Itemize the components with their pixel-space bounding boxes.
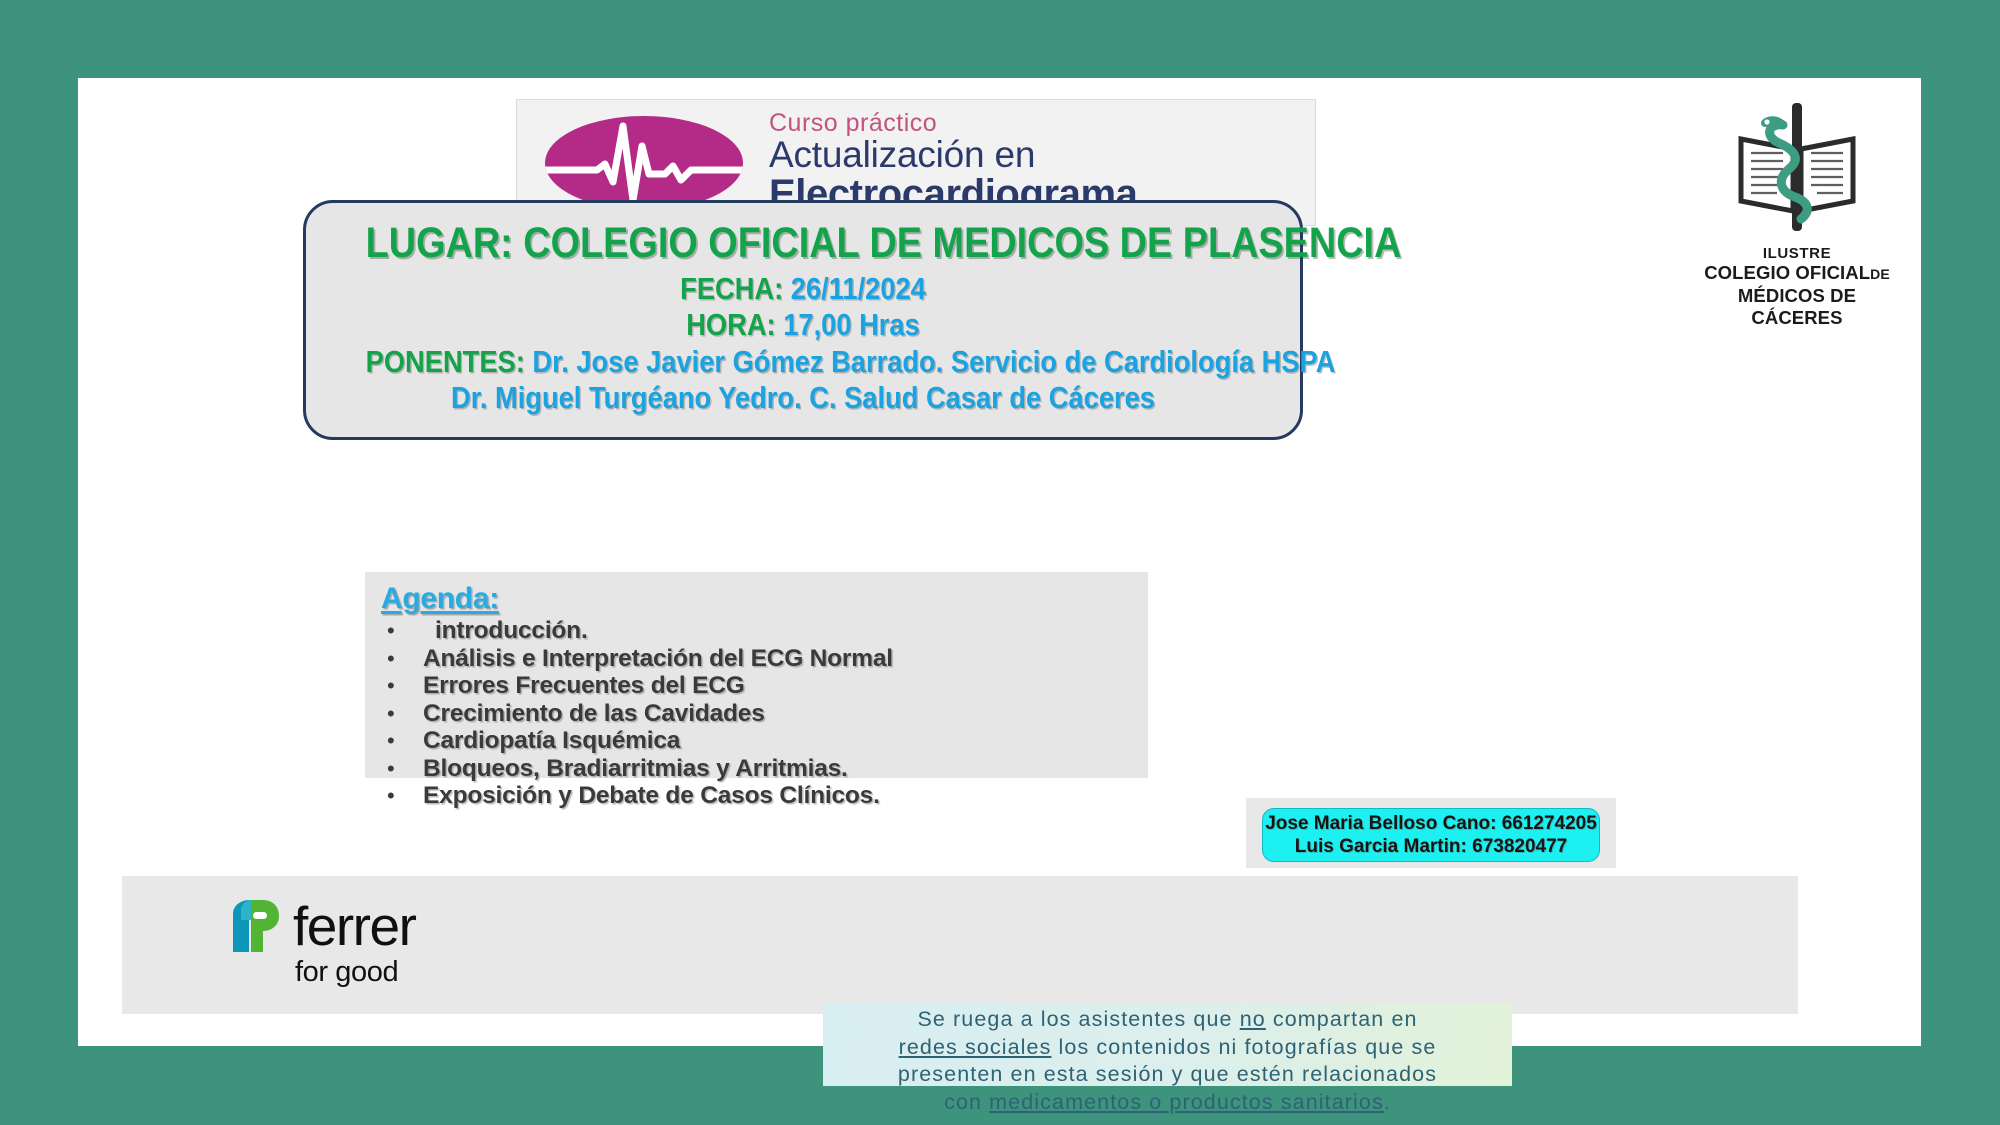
disclaimer-line-1: Se ruega a los asistentes que no compart… <box>823 1006 1512 1034</box>
agenda-title: Agenda: <box>381 582 1148 616</box>
college-emblem: ILUSTRE COLEGIO OFICIALDE MÉDICOS DE CÁC… <box>1697 93 1897 323</box>
sponsor-name: ferrer <box>293 901 415 952</box>
agenda-item-label: Errores Frecuentes del ECG <box>423 674 745 699</box>
slide-canvas: Curso práctico Actualización en Electroc… <box>78 78 1921 1046</box>
event-speaker-line-2: Dr. Miguel Turgéano Yedro. C. Salud Casa… <box>366 380 1241 417</box>
disclaimer-line-4: con medicamentos o productos sanitarios. <box>823 1089 1512 1117</box>
agenda-item-label: Cardiopatía Isquémica <box>423 729 680 754</box>
time-value: 17,00 Hras <box>783 307 920 342</box>
ecg-heartbeat-oval-icon <box>545 116 743 210</box>
speakers-label: PONENTES: <box>366 344 525 379</box>
agenda-list-item: • introducción. <box>381 619 1148 644</box>
disclaimer-text-b: compartan en <box>1266 1007 1418 1031</box>
contact-box: Jose Maria Belloso Cano: 661274205 Luis … <box>1262 808 1600 862</box>
sponsor-tagline: for good <box>295 956 527 989</box>
course-subtitle: Curso práctico <box>769 110 1138 136</box>
asclepius-book-icon <box>1697 93 1897 241</box>
agenda-item-label: Crecimiento de las Cavidades <box>423 702 765 727</box>
event-info-box: LUGAR: COLEGIO OFICIAL DE MEDICOS DE PLA… <box>303 200 1303 440</box>
course-title-line-1: Actualización en <box>769 136 1138 174</box>
contact-line-2: Luis Garcia Martin: 673820477 <box>1295 835 1567 858</box>
date-value: 26/11/2024 <box>791 271 926 306</box>
bullet-icon: • <box>381 785 423 807</box>
emblem-colegio-text: COLEGIO OFICIAL <box>1704 262 1870 283</box>
bullet-icon: • <box>381 648 423 670</box>
date-label: FECHA: <box>680 271 783 306</box>
disclaimer-underline-redes: redes sociales <box>899 1035 1052 1059</box>
speaker-1-value: Dr. Jose Javier Gómez Barrado. Servicio … <box>532 344 1335 379</box>
agenda-item-label: Exposición y Debate de Casos Clínicos. <box>423 784 880 809</box>
disclaimer-underline-no: no <box>1240 1007 1266 1031</box>
agenda-list-item: • Exposición y Debate de Casos Clínicos. <box>381 784 1148 809</box>
place-label: LUGAR: <box>366 219 513 267</box>
ferrer-logo-icon <box>227 898 281 954</box>
contact-panel: Jose Maria Belloso Cano: 661274205 Luis … <box>1246 798 1616 868</box>
disclaimer-text-d: con <box>944 1090 989 1114</box>
time-label: HORA: <box>686 307 775 342</box>
event-date-line: FECHA: 26/11/2024 <box>366 271 1241 308</box>
agenda-list-item: • Bloqueos, Bradiarritmias y Arritmias. <box>381 757 1148 782</box>
disclaimer-notice: Se ruega a los asistentes que no compart… <box>823 1003 1512 1086</box>
sponsor-logo-row: ferrer <box>227 898 527 954</box>
emblem-line-ilustre: ILUSTRE <box>1697 245 1897 262</box>
disclaimer-text-e: . <box>1384 1090 1391 1114</box>
emblem-line-colegio: COLEGIO OFICIALDE <box>1697 262 1897 285</box>
agenda-item-label: Bloqueos, Bradiarritmias y Arritmias. <box>423 757 848 782</box>
disclaimer-line-2: redes sociales los contenidos ni fotogra… <box>823 1034 1512 1062</box>
agenda-list-item: • Cardiopatía Isquémica <box>381 729 1148 754</box>
bullet-icon: • <box>381 758 423 780</box>
footer-band: ferrer for good Se ruega a los asistente… <box>122 876 1798 1014</box>
bullet-icon: • <box>381 703 423 725</box>
contact-line-1: Jose Maria Belloso Cano: 661274205 <box>1265 812 1597 835</box>
agenda-list-item: • Crecimiento de las Cavidades <box>381 702 1148 727</box>
agenda-item-label: introducción. <box>423 619 588 644</box>
bullet-icon: • <box>381 620 423 642</box>
place-value: COLEGIO OFICIAL DE MEDICOS DE PLASENCIA <box>523 219 1401 267</box>
disclaimer-line-3: presenten en esta sesión y que estén rel… <box>823 1061 1512 1089</box>
emblem-de-text: DE <box>1870 266 1890 282</box>
event-speaker-line-1: PONENTES: Dr. Jose Javier Gómez Barrado.… <box>366 344 1241 381</box>
agenda-list-item: • Análisis e Interpretación del ECG Norm… <box>381 647 1148 672</box>
agenda-panel: Agenda: • introducción. • Análisis e Int… <box>365 572 1148 778</box>
agenda-item-label: Análisis e Interpretación del ECG Normal <box>423 647 893 672</box>
disclaimer-text-a: Se ruega a los asistentes que <box>917 1007 1239 1031</box>
disclaimer-underline-medicamentos: medicamentos o productos sanitarios <box>989 1090 1384 1114</box>
agenda-list-item: • Errores Frecuentes del ECG <box>381 674 1148 699</box>
disclaimer-text-c: los contenidos ni fotografías que se <box>1051 1035 1436 1059</box>
sponsor-logo: ferrer for good <box>227 898 527 998</box>
emblem-line-medicos: MÉDICOS DE CÁCERES <box>1697 285 1897 330</box>
bullet-icon: • <box>381 675 423 697</box>
bullet-icon: • <box>381 730 423 752</box>
event-time-line: HORA: 17,00 Hras <box>366 307 1241 344</box>
event-place-line: LUGAR: COLEGIO OFICIAL DE MEDICOS DE PLA… <box>366 218 1241 269</box>
